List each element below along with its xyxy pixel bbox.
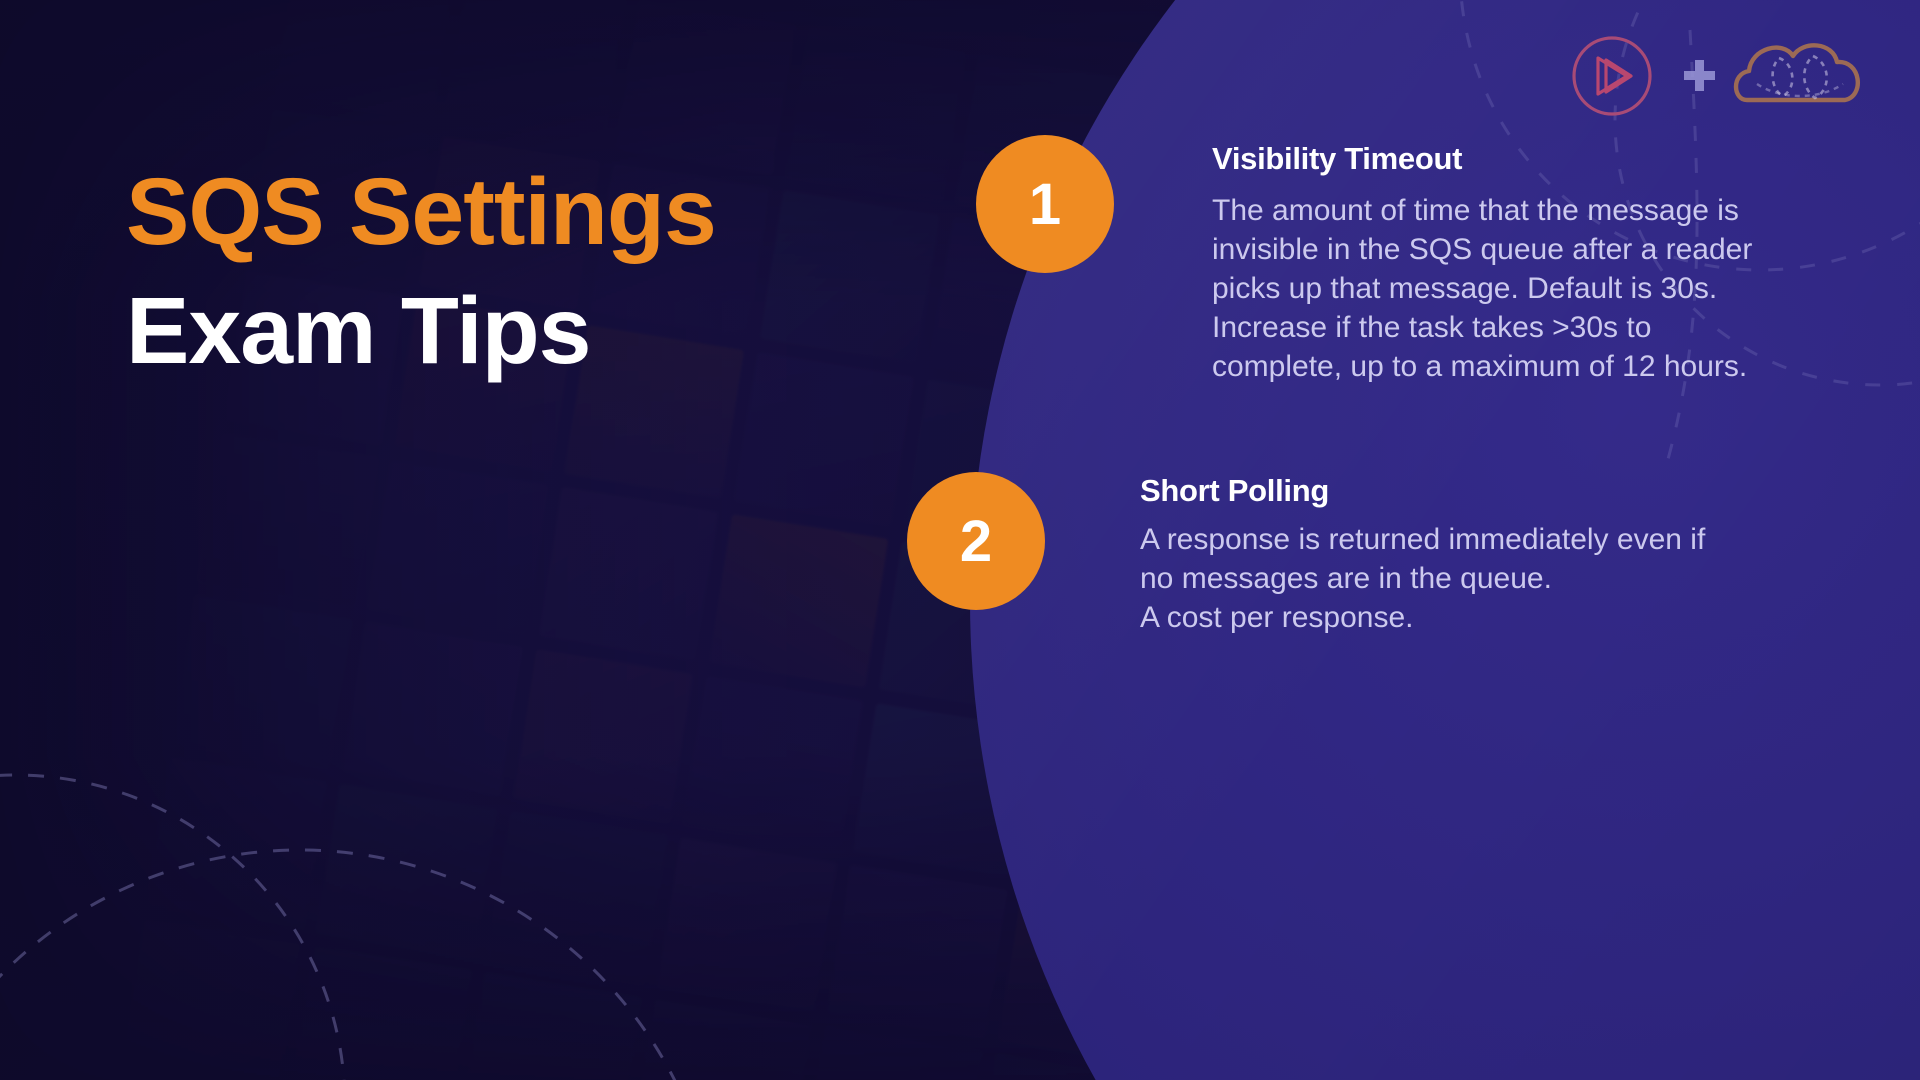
title-line-secondary: Exam Tips (126, 284, 886, 379)
tip-body-2: A response is returned immediately even … (1140, 520, 1780, 637)
title-line-primary: SQS Settings (126, 165, 886, 260)
tip-number-badge-1: 1 (976, 135, 1114, 273)
tip-body-1: The amount of time that the message is i… (1212, 191, 1812, 386)
plus-icon (1671, 22, 1727, 130)
tip-text-2: Short Polling A response is returned imm… (1140, 472, 1780, 637)
tip-number-badge-2: 2 (907, 472, 1045, 610)
tip-title-2: Short Polling (1140, 472, 1780, 509)
tip-text-1: Visibility Timeout The amount of time th… (1212, 135, 1812, 386)
tip-item-2: 2 Short Polling A response is returned i… (907, 472, 1780, 637)
page-title: SQS Settings Exam Tips (126, 165, 886, 379)
cloud-logo-icon (1727, 22, 1875, 130)
slide-root: SQS Settings Exam Tips 1 Visibility Time… (0, 0, 1920, 1080)
tip-title-1: Visibility Timeout (1212, 140, 1812, 177)
logo-lockup (1553, 22, 1875, 130)
play-circle-logo-icon (1553, 22, 1671, 130)
tip-item-1: 1 Visibility Timeout The amount of time … (976, 135, 1812, 386)
